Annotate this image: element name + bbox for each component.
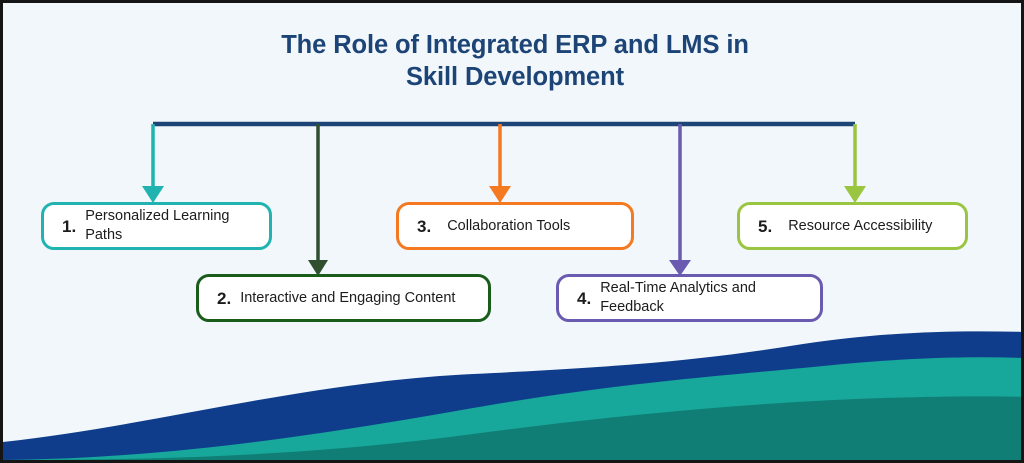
title-line-1: The Role of Integrated ERP and LMS in xyxy=(3,29,1024,61)
item-label: Interactive and Engaging Content xyxy=(240,289,476,308)
item-label: Real-Time Analytics and Feedback xyxy=(600,279,808,317)
item-label: Personalized Learning Paths xyxy=(85,207,257,245)
item-number: 3. xyxy=(417,218,431,235)
item-number: 2. xyxy=(217,290,231,307)
title-line-2: Skill Development xyxy=(3,61,1024,93)
list-item[interactable]: 2. Interactive and Engaging Content xyxy=(196,274,491,322)
list-item[interactable]: 4. Real-Time Analytics and Feedback xyxy=(556,274,823,322)
page-title: The Role of Integrated ERP and LMS in Sk… xyxy=(3,29,1024,93)
connector-arrow-1 xyxy=(142,186,164,203)
wave-decoration xyxy=(3,330,1024,460)
list-item[interactable]: 5. Resource Accessibility xyxy=(737,202,968,250)
item-number: 4. xyxy=(577,290,591,307)
connector-arrow-5 xyxy=(844,186,866,203)
item-number: 1. xyxy=(62,218,76,235)
infographic-canvas: The Role of Integrated ERP and LMS in Sk… xyxy=(0,0,1024,463)
item-label: Resource Accessibility xyxy=(788,217,953,236)
list-item[interactable]: 3. Collaboration Tools xyxy=(396,202,634,250)
item-label: Collaboration Tools xyxy=(447,217,619,236)
item-number: 5. xyxy=(758,218,772,235)
list-item[interactable]: 1. Personalized Learning Paths xyxy=(41,202,272,250)
connector-arrow-3 xyxy=(489,186,511,203)
